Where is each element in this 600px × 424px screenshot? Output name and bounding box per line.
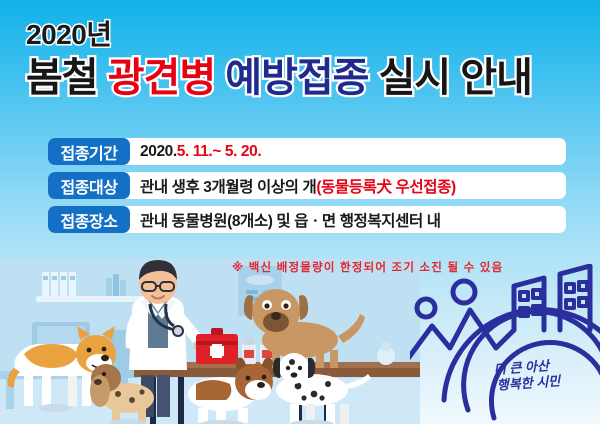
- title-rabies: 광견병: [108, 56, 215, 100]
- poster-canvas: 2020년 봄철 광견병 예방접종 실시 안내 접종기간 2020. 5. 11…: [0, 0, 600, 424]
- poster-year-line: 2020년: [26, 18, 582, 52]
- info-row-location: 접종장소 관내 동물병원(8개소) 및 읍ㆍ면 행정복지센터 내: [48, 206, 566, 233]
- row-text-period: 2020. 5. 11.~ 5. 20.: [130, 138, 261, 165]
- badge-period: 접종기간: [48, 138, 130, 165]
- info-row-period: 접종기간 2020. 5. 11.~ 5. 20.: [48, 138, 566, 165]
- vaccine-supply-note: ※ 백신 배정물량이 한정되어 조기 소진 될 수 있음: [232, 259, 503, 275]
- poster-title-block: 2020년 봄철 광견병 예방접종 실시 안내: [26, 18, 582, 102]
- location-main: 관내 동물병원(8개소) 및 읍ㆍ면 행정복지센터 내: [140, 209, 441, 231]
- title-notice: 실시 안내: [379, 56, 532, 100]
- clinic-illustration: [0, 258, 420, 424]
- poster-main-title: 봄철 광견병 예방접종 실시 안내: [26, 54, 582, 102]
- info-rows: 접종기간 2020. 5. 11.~ 5. 20. 접종대상 관내 생후 3개월…: [48, 138, 566, 240]
- badge-location: 접종장소: [48, 206, 130, 233]
- city-brand-logo: 더 큰 아산 행복한 시민: [410, 264, 600, 424]
- target-note: (동물등록犬 우선접종): [316, 175, 455, 197]
- target-main: 관내 생후 3개월령 이상의 개: [140, 175, 316, 197]
- period-prefix: 2020.: [140, 143, 177, 161]
- info-row-target: 접종대상 관내 생후 3개월령 이상의 개 (동물등록犬 우선접종): [48, 172, 566, 199]
- row-text-target: 관내 생후 3개월령 이상의 개 (동물등록犬 우선접종): [130, 172, 456, 199]
- row-text-location: 관내 동물병원(8개소) 및 읍ㆍ면 행정복지센터 내: [130, 206, 441, 233]
- period-dates: 5. 11.~ 5. 20.: [177, 143, 261, 161]
- title-vaccination: 예방접종: [225, 56, 368, 100]
- title-spring: 봄철: [26, 56, 98, 100]
- badge-target: 접종대상: [48, 172, 130, 199]
